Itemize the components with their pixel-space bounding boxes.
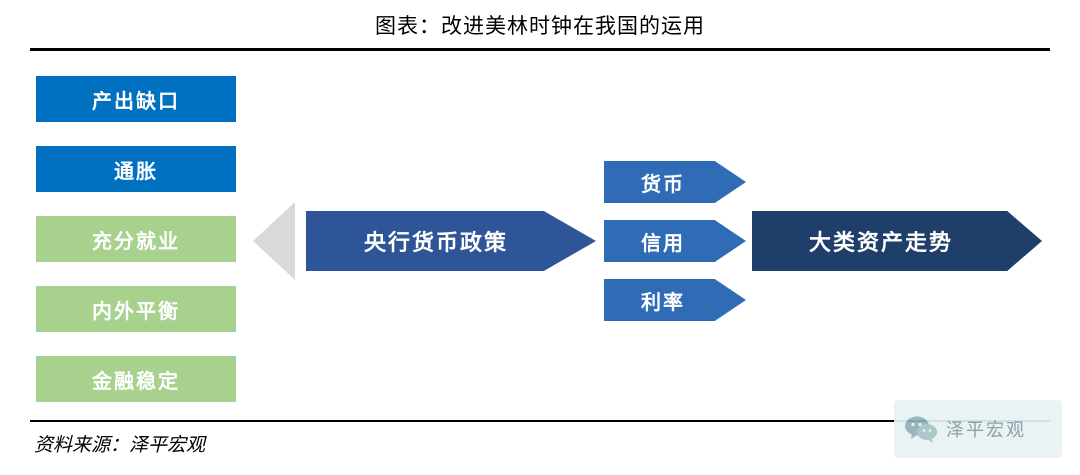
- list-item-financial-stability: 金融稳定: [36, 356, 236, 402]
- list-item-output-gap: 产出缺口: [36, 76, 236, 122]
- list-item-internal-external-balance: 内外平衡: [36, 286, 236, 332]
- chevron-left-connector: [253, 202, 295, 280]
- figure-canvas: 图表：改进美林时钟在我国的运用 产出缺口 通胀 充分就业 内外平衡 金融稳定 央…: [0, 0, 1080, 475]
- page-title: 图表：改进美林时钟在我国的运用: [0, 10, 1080, 40]
- top-divider: [30, 48, 1050, 51]
- arrow-channel-money: 货币: [604, 161, 746, 203]
- watermark-badge: 泽平宏观: [894, 400, 1062, 458]
- arrow-channel-credit: 信用: [604, 220, 746, 262]
- arrow-channel-interest: 利率: [604, 279, 746, 321]
- wechat-icon: [904, 415, 938, 443]
- watermark-label: 泽平宏观: [946, 416, 1026, 442]
- arrow-central-bank-policy: 央行货币政策: [306, 211, 596, 271]
- arrow-asset-class-trend: 大类资产走势: [752, 211, 1042, 271]
- source-note: 资料来源：泽平宏观: [34, 430, 205, 457]
- list-item-full-employment: 充分就业: [36, 216, 236, 262]
- list-item-inflation: 通胀: [36, 146, 236, 192]
